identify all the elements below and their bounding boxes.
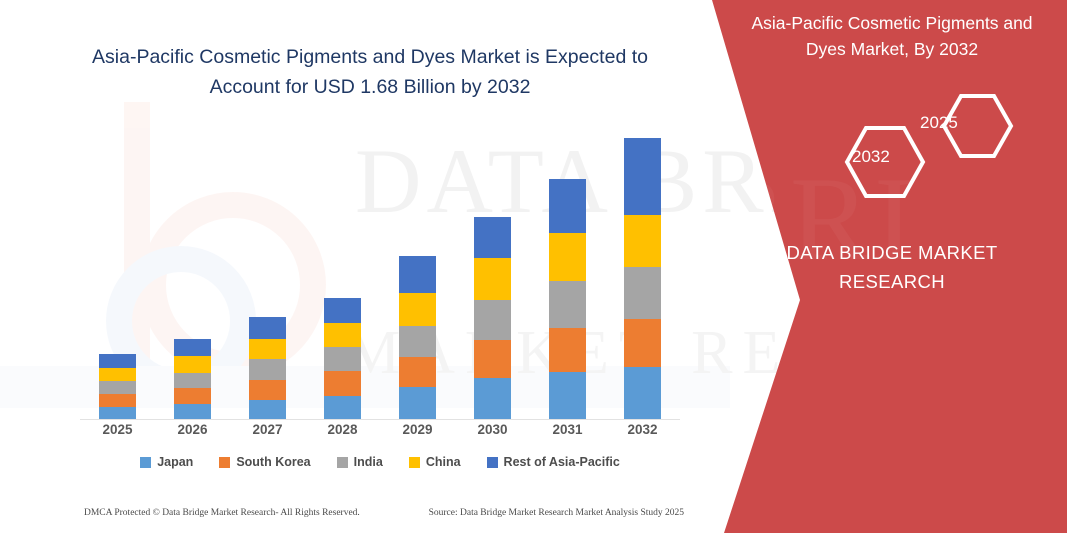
page-title: Asia-Pacific Cosmetic Pigments and Dyes … — [60, 42, 680, 102]
bar-segment — [474, 300, 511, 340]
hexagon-badges: 2032 2025 — [818, 90, 1048, 210]
stacked-bar — [324, 298, 361, 419]
bar-segment — [174, 388, 211, 404]
bar-segment — [399, 357, 436, 387]
bar-group — [85, 138, 151, 419]
bar-segment — [549, 328, 586, 372]
bar-segment — [324, 347, 361, 371]
x-axis-tick-2028: 2028 — [310, 422, 376, 437]
brand-line-2: RESEARCH — [732, 267, 1052, 296]
x-axis-tick-2029: 2029 — [385, 422, 451, 437]
legend-label: South Korea — [236, 455, 310, 469]
legend-item[interactable]: Rest of Asia-Pacific — [487, 455, 620, 469]
legend-label: India — [354, 455, 383, 469]
legend-item[interactable]: India — [337, 455, 383, 469]
legend-label: Rest of Asia-Pacific — [504, 455, 620, 469]
footer-copyright: DMCA Protected © Data Bridge Market Rese… — [84, 508, 360, 518]
legend-label: Japan — [157, 455, 193, 469]
x-axis-tick-2032: 2032 — [610, 422, 676, 437]
legend-item[interactable]: China — [409, 455, 461, 469]
bar-segment — [174, 356, 211, 373]
stacked-bar — [399, 256, 436, 419]
bar-segment — [549, 233, 586, 281]
hexagon-2025-label: 2025 — [920, 113, 958, 133]
bar-segment — [399, 293, 436, 326]
brand-panel: BRI Asia-Pacific Cosmetic Pigments and D… — [700, 0, 1067, 533]
bar-segment — [324, 298, 361, 323]
bar-group — [535, 138, 601, 419]
chart-x-axis: 20252026202720282029203020312032 — [80, 422, 680, 437]
bar-segment — [99, 381, 136, 394]
chart-plot-area — [80, 138, 680, 420]
bar-segment — [99, 394, 136, 407]
bar-segment — [399, 326, 436, 357]
bar-group — [385, 138, 451, 419]
x-axis-tick-2025: 2025 — [85, 422, 151, 437]
stacked-bar — [174, 339, 211, 419]
chart-legend: JapanSouth KoreaIndiaChinaRest of Asia-P… — [80, 455, 680, 469]
bar-group — [610, 138, 676, 419]
bar-segment — [249, 359, 286, 380]
bar-segment — [249, 380, 286, 400]
legend-swatch-icon — [487, 457, 498, 468]
legend-swatch-icon — [140, 457, 151, 468]
bar-segment — [399, 387, 436, 419]
bar-segment — [549, 179, 586, 233]
bar-segment — [249, 400, 286, 419]
bar-segment — [324, 371, 361, 396]
bar-segment — [324, 396, 361, 419]
bar-segment — [624, 138, 661, 215]
bar-segment — [99, 354, 136, 368]
legend-item[interactable]: South Korea — [219, 455, 310, 469]
x-axis-tick-2027: 2027 — [235, 422, 301, 437]
bar-segment — [174, 339, 211, 356]
stacked-bar — [249, 317, 286, 419]
legend-label: China — [426, 455, 461, 469]
bar-group — [460, 138, 526, 419]
stacked-bar-chart: 20252026202720282029203020312032 — [80, 120, 680, 420]
legend-swatch-icon — [219, 457, 230, 468]
stacked-bar — [624, 138, 661, 419]
bar-segment — [249, 317, 286, 339]
brand-line-1: DATA BRIDGE MARKET — [732, 238, 1052, 267]
bar-segment — [174, 404, 211, 419]
bar-segment — [99, 368, 136, 381]
bar-segment — [174, 373, 211, 388]
bar-segment — [474, 378, 511, 419]
bar-group — [310, 138, 376, 419]
footer-source: Source: Data Bridge Market Research Mark… — [429, 508, 684, 518]
legend-item[interactable]: Japan — [140, 455, 193, 469]
bar-segment — [624, 319, 661, 367]
stacked-bar — [474, 217, 511, 419]
infographic-root: DATA BRIDGE MARKET RESEARCH Asia-Pacific… — [0, 0, 1067, 533]
hexagon-2032-label: 2032 — [852, 147, 890, 167]
bar-group — [235, 138, 301, 419]
footer: DMCA Protected © Data Bridge Market Rese… — [84, 508, 684, 518]
bar-segment — [474, 217, 511, 258]
bar-segment — [399, 256, 436, 293]
bar-segment — [624, 367, 661, 419]
x-axis-tick-2026: 2026 — [160, 422, 226, 437]
stacked-bar — [99, 354, 136, 419]
x-axis-tick-2031: 2031 — [535, 422, 601, 437]
bar-segment — [624, 267, 661, 319]
bar-segment — [549, 372, 586, 419]
legend-swatch-icon — [337, 457, 348, 468]
bar-segment — [99, 407, 136, 419]
bar-segment — [249, 339, 286, 359]
bar-segment — [474, 340, 511, 378]
stacked-bar — [549, 179, 586, 419]
legend-swatch-icon — [409, 457, 420, 468]
bar-segment — [549, 281, 586, 328]
panel-title: Asia-Pacific Cosmetic Pigments and Dyes … — [732, 10, 1052, 62]
bar-segment — [624, 215, 661, 267]
bar-segment — [324, 323, 361, 347]
bar-segment — [474, 258, 511, 300]
brand-name: DATA BRIDGE MARKET RESEARCH — [732, 238, 1052, 296]
x-axis-tick-2030: 2030 — [460, 422, 526, 437]
bar-group — [160, 138, 226, 419]
